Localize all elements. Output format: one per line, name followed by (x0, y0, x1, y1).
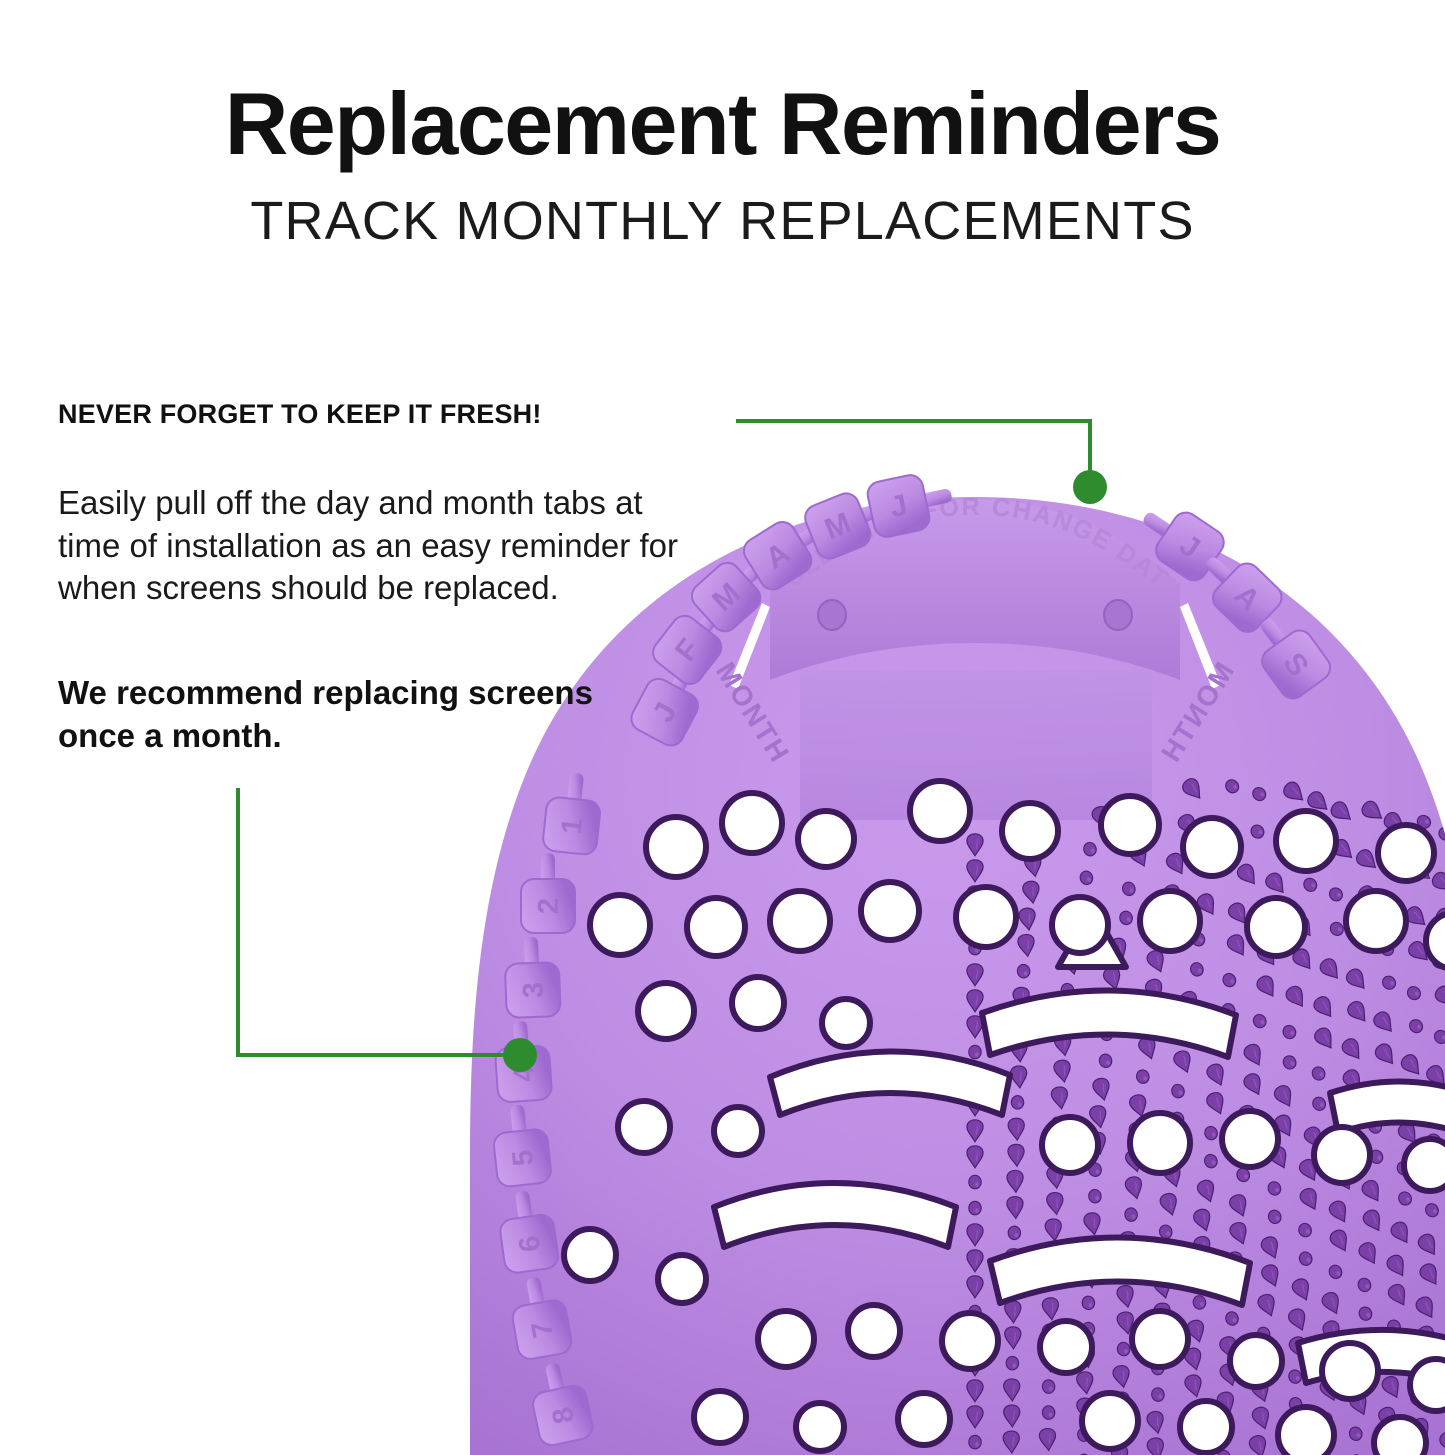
drain-hole (687, 898, 745, 956)
bristle (1042, 1405, 1055, 1420)
drain-hole (1130, 1113, 1190, 1173)
center-panel (800, 670, 1152, 820)
bristle (969, 1175, 981, 1189)
rim-dimple-left (818, 600, 846, 630)
drain-hole (1132, 1311, 1188, 1367)
drain-hole (1002, 803, 1058, 859)
drain-hole (796, 1403, 844, 1451)
drain-hole (798, 811, 854, 867)
bristle (969, 1201, 981, 1215)
drain-hole (910, 781, 970, 841)
drain-hole (822, 999, 870, 1047)
drain-hole (590, 895, 650, 955)
drain-hole (714, 1107, 762, 1155)
day-tab-number: 1 (556, 816, 590, 835)
drain-hole (1314, 1127, 1370, 1183)
drain-hole (1410, 1359, 1445, 1411)
drain-hole (564, 1229, 616, 1281)
recommend-paragraph: We recommend replacing screens once a mo… (58, 672, 598, 758)
callout-heading: NEVER FORGET TO KEEP IT FRESH! (58, 400, 698, 430)
drain-hole (1230, 1335, 1282, 1387)
drain-hole (758, 1311, 814, 1367)
drain-hole (618, 1101, 670, 1153)
copy-column: NEVER FORGET TO KEEP IT FRESH! Easily pu… (58, 400, 698, 758)
drain-hole (646, 817, 706, 877)
bristle (1008, 1226, 1021, 1240)
drain-hole (1374, 1417, 1426, 1455)
drain-hole (1140, 891, 1200, 951)
drain-hole (848, 1305, 900, 1357)
body-paragraph: Easily pull off the day and month tabs a… (58, 482, 683, 611)
bristle (969, 1435, 981, 1449)
drain-hole (1378, 825, 1434, 881)
day-tab-number: 5 (507, 1148, 541, 1167)
drain-hole (1346, 891, 1406, 951)
page-title: Replacement Reminders (0, 0, 1445, 168)
drain-hole (942, 1313, 998, 1369)
drain-hole (1183, 818, 1241, 876)
drain-hole (956, 887, 1016, 947)
drain-hole (1278, 1407, 1334, 1455)
day-tab-number: 4 (508, 1065, 541, 1083)
drain-hole (722, 793, 782, 853)
drain-hole (732, 977, 784, 1029)
drain-hole (1322, 1343, 1378, 1399)
drain-hole (770, 891, 830, 951)
drain-hole (1082, 1393, 1138, 1449)
drain-hole (898, 1393, 950, 1445)
drain-hole (1222, 1111, 1278, 1167)
drain-hole (658, 1255, 706, 1303)
page-subtitle: TRACK MONTHLY REPLACEMENTS (0, 168, 1445, 248)
drain-hole (1276, 811, 1336, 871)
drain-hole (861, 882, 919, 940)
drain-hole (694, 1391, 746, 1443)
bristle (1011, 1095, 1024, 1109)
drain-hole (1052, 897, 1108, 953)
day-tab-number: 3 (518, 981, 551, 998)
rim-dimple-right (1104, 600, 1132, 630)
drain-hole (1101, 796, 1159, 854)
drain-hole (638, 983, 694, 1039)
bristle (969, 1045, 981, 1059)
drain-hole (1040, 1321, 1092, 1373)
bristle (1042, 1379, 1056, 1394)
bristle (1006, 1356, 1019, 1370)
drain-hole (1180, 1401, 1232, 1453)
drain-hole (1247, 898, 1305, 956)
header: Replacement Reminders TRACK MONTHLY REPL… (0, 0, 1445, 248)
day-tab-number: 2 (533, 898, 565, 914)
drain-hole (1042, 1117, 1098, 1173)
drain-hole (1404, 1139, 1445, 1191)
